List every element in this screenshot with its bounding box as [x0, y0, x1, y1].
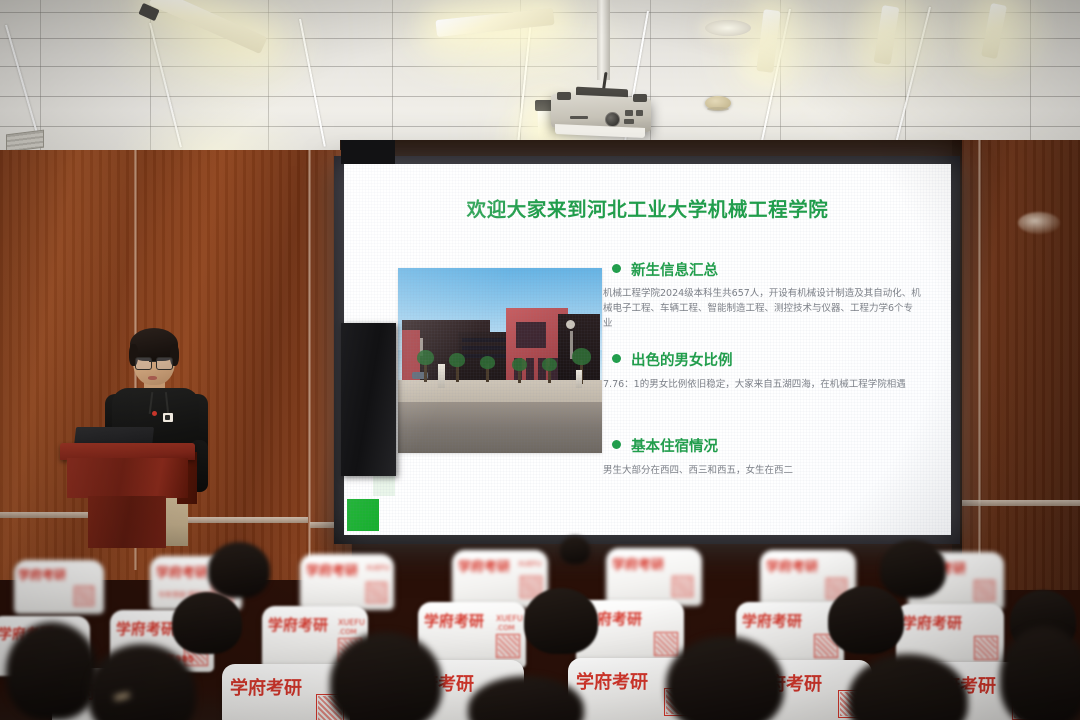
slide-title: 欢迎大家来到河北工业大学机械工程学院	[344, 193, 951, 222]
wall-mounted-panel	[341, 323, 396, 476]
section-body: 7.76：1的男女比例依旧稳定，大家来自五湖四海，在机械工程学院相遇	[603, 377, 921, 392]
lecture-hall-scene: 欢迎大家来到河北工业大学机械工程学院	[0, 0, 1080, 720]
air-vent-icon	[6, 130, 44, 153]
audience-head	[880, 540, 946, 598]
audience-head	[1000, 626, 1080, 720]
audience-head	[828, 586, 904, 654]
bullet-dot-icon	[612, 264, 621, 273]
section-heading: 出色的男女比例	[631, 349, 733, 370]
slide-decoration-accent	[347, 499, 379, 531]
slide-photo	[398, 268, 602, 453]
chair: 学府考研	[14, 560, 104, 614]
wall-mounted-panel-top	[341, 140, 395, 164]
audience-head	[560, 536, 590, 564]
podium	[67, 458, 188, 498]
audience-head	[208, 542, 270, 598]
bullet-dot-icon	[612, 354, 621, 363]
chair: 学府考研	[606, 548, 702, 606]
section-body: 男生大部分在西四、西三和西五，女生在西二	[603, 463, 921, 478]
downlight-icon	[705, 20, 751, 36]
presenter-badge	[152, 411, 157, 416]
eyeglasses-icon	[135, 357, 152, 370]
audience-head	[172, 592, 242, 654]
section-body: 机械工程学院2024级本科生共657人，开设有机械设计制造及其自动化、机械电子工…	[603, 286, 921, 331]
projector-mount	[597, 0, 610, 80]
bullet-dot-icon	[612, 440, 621, 449]
projector-lens-icon	[605, 112, 620, 127]
section-heading: 基本住宿情况	[631, 435, 718, 456]
smoke-detector-icon	[705, 96, 731, 110]
audience-seating: 学府考研 今年学府 明年985 学府考研 XUEFU 学府考研 XUEFU 学府…	[0, 528, 1080, 720]
audience-head	[524, 588, 598, 654]
section-heading: 新生信息汇总	[631, 259, 718, 280]
audience-head	[6, 622, 98, 720]
eyeglasses-icon	[156, 357, 173, 370]
slide-decoration-pale	[373, 476, 395, 496]
wall-right-panel	[952, 140, 1080, 590]
chair: 学府考研 XUEFU	[300, 554, 394, 610]
